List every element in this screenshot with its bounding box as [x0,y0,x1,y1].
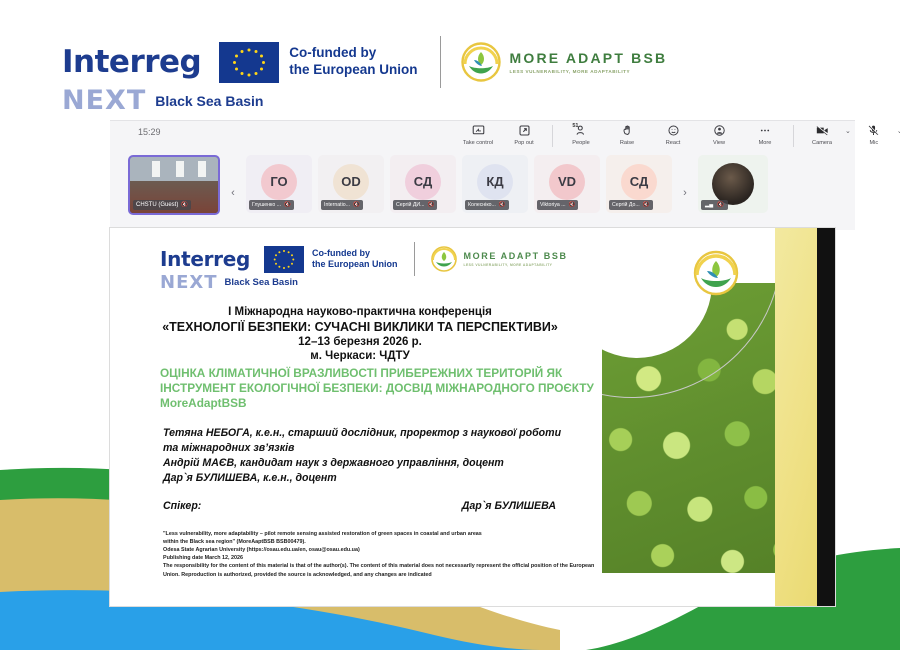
signal-strength-icon: ▂▄ [705,202,713,208]
mic-off-badge-icon: 🔇 [569,202,576,208]
slide-logo-row: Interreg Co-funded by the European Union [160,242,568,276]
conference-line-3: 12–13 березня 2026 р. [110,336,610,348]
more-adapt-text: MORE ADAPT BSB LESS VULNERABILITY, MORE … [510,50,668,74]
meeting-timer: 15:29 [138,127,161,137]
self-name-label: CHSTU (Guest) [136,202,178,208]
screen-share-icon [472,123,485,138]
more-button[interactable]: More [742,123,788,146]
toolbar-separator-1 [552,125,553,147]
participant-label-3: Сергій ДИ... [396,202,424,208]
participant-tile-3[interactable]: СД Сергій ДИ... 🔇 [390,155,456,213]
conference-heading: I Міжнародна науково-практична конференц… [110,306,610,362]
interreg-wordmark: Interreg [62,44,201,80]
next-wordmark: NEXT [62,85,146,116]
react-button[interactable]: React [650,123,696,146]
camera-off-icon [815,123,830,138]
slide-more-adapt-logo-icon [431,246,457,272]
author-line-4: Дар`я БУЛИШЕВА, к.е.н., доцент [163,471,613,486]
people-label: People [572,140,589,146]
avatar-initials-1: ГО [261,164,297,200]
participant-name-5: Viktoriya ... 🔇 [537,200,578,210]
participant-label-5: Viktoriya ... [540,202,566,208]
participant-name-self: CHSTU (Guest) 🔇 [133,200,191,210]
mic-off-badge-icon: 🔇 [499,202,506,208]
participant-tile-spotlight[interactable]: ▂▄ 🔇 [698,155,768,213]
header-next-row: NEXT Black Sea Basin [62,85,263,116]
mic-off-badge-icon: 🔇 [643,202,650,208]
eu-stars-icon [219,42,279,83]
participant-tile-6[interactable]: СД Сергій До... 🔇 [606,155,672,213]
view-label: View [713,140,725,146]
slide-eu-line-1: Co-funded by [312,248,370,258]
participant-tile-4[interactable]: КД Колесніко... 🔇 [462,155,528,213]
more-adapt-title: MORE ADAPT BSB [510,50,668,66]
presentation-slide: Interreg Co-funded by the European Union [110,228,835,606]
raise-label: Raise [620,140,634,146]
participant-name-6: Сергій До... 🔇 [609,200,653,210]
people-count-badge: 51 [572,123,578,129]
participant-name-3: Сергій ДИ... 🔇 [393,200,437,210]
page-header: Interreg Co-funded by the European Union [0,0,900,120]
react-label: React [666,140,681,146]
participant-label-6: Сергій До... [612,202,640,208]
avatar-initials-6: СД [621,164,657,200]
participant-label-4: Колесніко... [468,202,496,208]
pop-out-icon [518,123,531,138]
footnote-disclaimer: The responsibility for the content of th… [163,562,603,578]
footnote-line-2: within the Black sea region" (MoreAaptBS… [163,538,613,546]
mic-off-badge-icon: 🔇 [353,202,360,208]
mic-off-badge-icon: 🔇 [181,202,188,208]
more-adapt-emblem-icon [693,250,739,296]
more-adapt-subtitle: LESS VULNERABILITY, MORE ADAPTABILITY [510,69,668,74]
slide-more-adapt-subtitle: LESS VULNERABILITY, MORE ADAPTABILITY [464,263,568,267]
slide-footnote: "Less vulnerability, more adaptability –… [163,530,613,579]
avatar-initials-5: VD [549,164,585,200]
participant-name-4: Колесніко... 🔇 [465,200,509,210]
people-button[interactable]: 51 People [558,123,604,146]
author-line-1: Тетяна НЕБОГА, к.е.н., старший дослідник… [163,426,613,441]
camera-button[interactable]: Camera [799,123,845,146]
mic-label: Mic [870,140,879,146]
eu-funding-line-1: Co-funded by [289,45,376,60]
mic-off-icon [867,123,880,138]
speaker-row: Спікер: Дар`я БУЛИШЕВА [163,500,608,512]
conference-line-4: м. Черкаси: ЧДТУ [110,350,610,362]
view-icon [713,123,726,138]
footnote-line-3: Odesa State Agrarian University (https:/… [163,546,613,554]
avatar [712,163,754,205]
conference-line-2: «ТЕХНОЛОГІЇ БЕЗПЕКИ: СУЧАСНІ ВИКЛИКИ ТА … [110,320,610,334]
more-adapt-logo-icon [461,42,501,82]
mic-off-badge-icon: 🔇 [717,202,724,208]
teams-toolbar: 15:29 Take control Pop [110,121,855,155]
footnote-line-4: Publishing date March 12, 2026 [163,554,613,562]
people-icon: 51 [575,123,588,138]
participant-tile-5[interactable]: VD Viktoriya ... 🔇 [534,155,600,213]
eu-flag-icon [219,42,279,83]
view-button[interactable]: View [696,123,742,146]
slide-next-row: NEXT Black Sea Basin [160,272,298,293]
slide-eu-line-2: the European Union [312,259,398,269]
slide-edge-strip [817,228,835,606]
presentation-title: ОЦІНКА КЛІМАТИЧНОЇ ВРАЗЛИВОСТІ ПРИБЕРЕЖН… [160,366,600,411]
slide-more-adapt-text: MORE ADAPT BSB LESS VULNERABILITY, MORE … [457,251,568,267]
author-line-2: та міжнародних зв’язків [163,441,613,456]
speaker-name: Дар`я БУЛИШЕВА [462,500,556,512]
more-label: More [759,140,772,146]
ceiling-light-1 [152,161,160,177]
participant-name-1: Глушенко ... 🔇 [249,200,294,210]
slide-eu-funding-text: Co-funded by the European Union [312,248,398,271]
programme-name: Black Sea Basin [155,93,263,109]
toolbar-separator-2 [793,125,794,147]
participant-name-2: Internatio... 🔇 [321,200,363,210]
slide-more-adapt-title: MORE ADAPT BSB [464,251,568,261]
participant-label-1: Глушенко ... [252,202,281,208]
footnote-line-1: "Less vulnerability, more adaptability –… [163,530,613,538]
author-line-3: Андрій МАЄВ, кандидат наук з державного … [163,456,613,471]
slide-eu-flag-icon [264,246,304,273]
slide-programme-name: Black Sea Basin [225,277,298,288]
avatar-initials-2: OD [333,164,369,200]
conference-line-1: I Міжнародна науково-практична конференц… [110,306,610,318]
mic-off-badge-icon: 🔇 [427,202,434,208]
authors-block: Тетяна НЕБОГА, к.е.н., старший дослідник… [163,426,613,486]
slide-interreg-wordmark: Interreg [160,247,250,271]
header-logo-row: Interreg Co-funded by the European Union [62,36,667,88]
participant-label-2: Internatio... [324,202,350,208]
spotlight-badges: ▂▄ 🔇 [701,200,728,210]
ceiling-light-3 [198,161,206,177]
raise-hand-button[interactable]: Raise [604,123,650,146]
take-control-button[interactable]: Take control [455,123,501,146]
header-divider [440,36,441,88]
avatar-initials-3: СД [405,164,441,200]
take-control-label: Take control [463,140,493,146]
slide-next-wordmark: NEXT [160,272,218,293]
avatar-initials-4: КД [477,164,513,200]
pop-out-label: Pop out [514,140,533,146]
hand-raise-icon [621,123,634,138]
toolbar-items: Take control Pop out [455,123,900,147]
mic-button[interactable]: Mic [851,123,897,146]
participant-tile-self[interactable]: CHSTU (Guest) 🔇 [128,155,220,215]
filmstrip-prev-arrow[interactable]: ‹ [226,187,240,199]
teams-meeting-window: 15:29 Take control Pop [110,120,855,230]
participant-tile-1[interactable]: ГО Глушенко ... 🔇 [246,155,312,213]
mic-off-badge-icon: 🔇 [284,202,291,208]
eu-funding-line-2: the European Union [289,62,417,77]
speaker-label: Спікер: [163,500,201,512]
participant-tile-2[interactable]: OD Internatio... 🔇 [318,155,384,213]
participant-filmstrip: CHSTU (Guest) 🔇 ‹ ГО Глушенко ... 🔇 OD I… [110,155,855,231]
eu-funding-text: Co-funded by the European Union [289,45,417,79]
filmstrip-next-arrow[interactable]: › [678,187,692,199]
camera-label: Camera [812,140,832,146]
ellipsis-icon [758,123,772,138]
slide-logo-divider [414,242,415,276]
ceiling-light-2 [176,161,184,177]
pop-out-button[interactable]: Pop out [501,123,547,146]
emoji-icon [667,123,680,138]
